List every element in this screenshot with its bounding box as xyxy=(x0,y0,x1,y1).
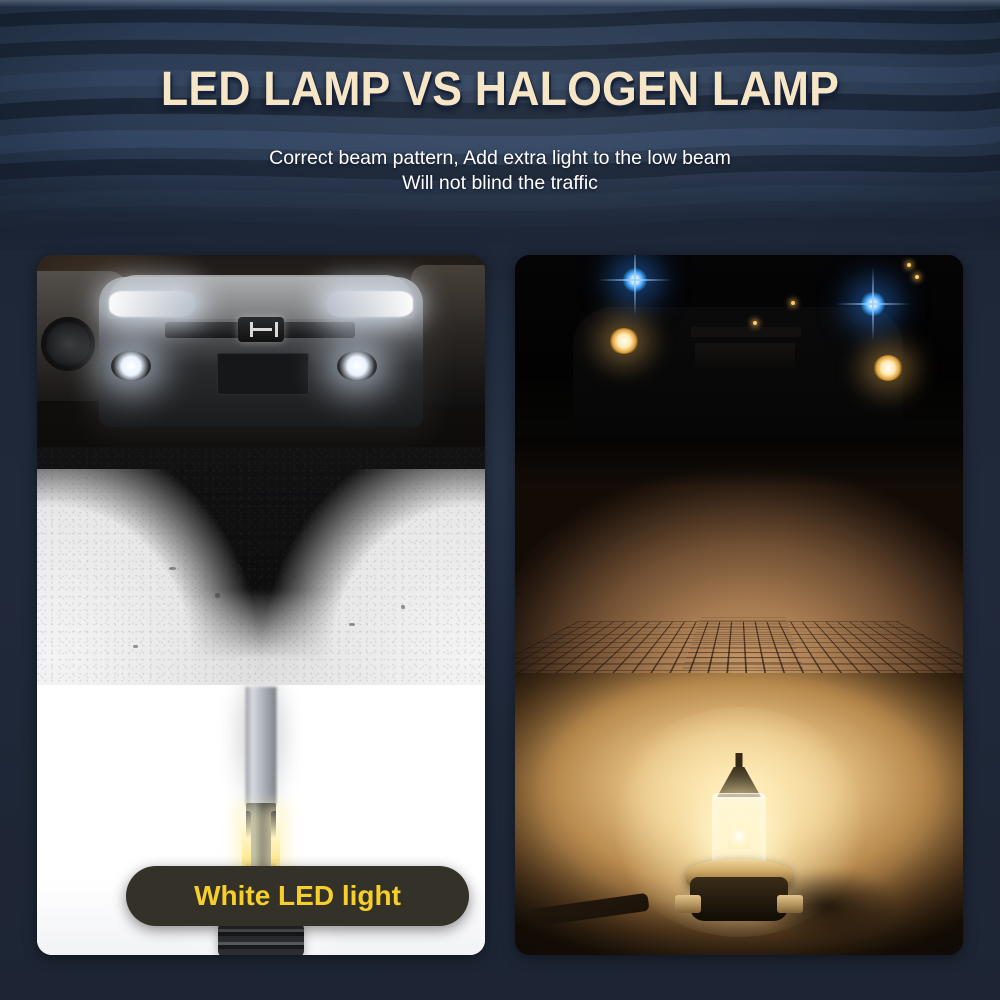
page-title: LED LAMP VS HALOGEN LAMP xyxy=(35,62,965,117)
halogen-photo-blue-light-left xyxy=(622,267,648,293)
halogen-photo-blue-light-right xyxy=(860,291,886,317)
halogen-photo-grille xyxy=(691,327,801,337)
led-bulb-base xyxy=(218,923,304,955)
halogen-bulb-vignette xyxy=(515,673,963,955)
led-beam-pattern-photo xyxy=(37,447,485,707)
halogen-brick-pavement-photo xyxy=(515,437,963,687)
halogen-comparison-panel: yellow halogen lamp xyxy=(515,255,963,955)
led-car-night-photo xyxy=(37,255,485,455)
led-foglight-right xyxy=(337,351,377,381)
halogen-headlight-right xyxy=(873,355,903,381)
halogen-headlight-left xyxy=(609,328,639,354)
led-bulb-stem xyxy=(246,687,277,805)
halogen-pavement-shadow-top xyxy=(515,437,963,485)
led-headlight-right xyxy=(327,291,413,317)
led-photo-license-plate xyxy=(217,353,309,395)
honda-emblem-icon xyxy=(238,317,284,342)
led-label-text: White LED light xyxy=(194,880,401,912)
led-headlight-left xyxy=(109,291,195,317)
led-comparison-panel: White LED light xyxy=(37,255,485,955)
subtitle-line-2: Will not blind the traffic xyxy=(0,172,1000,195)
led-beam-debris xyxy=(37,447,485,707)
led-label-pill: White LED light xyxy=(126,866,469,926)
halogen-bulb-photo xyxy=(515,673,963,955)
halogen-photo-license-plate xyxy=(695,343,795,369)
infographic-canvas: LED LAMP VS HALOGEN LAMP Correct beam pa… xyxy=(0,0,1000,1000)
subtitle-line-1: Correct beam pattern, Add extra light to… xyxy=(0,147,1000,170)
background-top-strip xyxy=(0,0,1000,7)
led-foglight-left xyxy=(111,351,151,381)
led-photo-wheel xyxy=(41,317,95,371)
